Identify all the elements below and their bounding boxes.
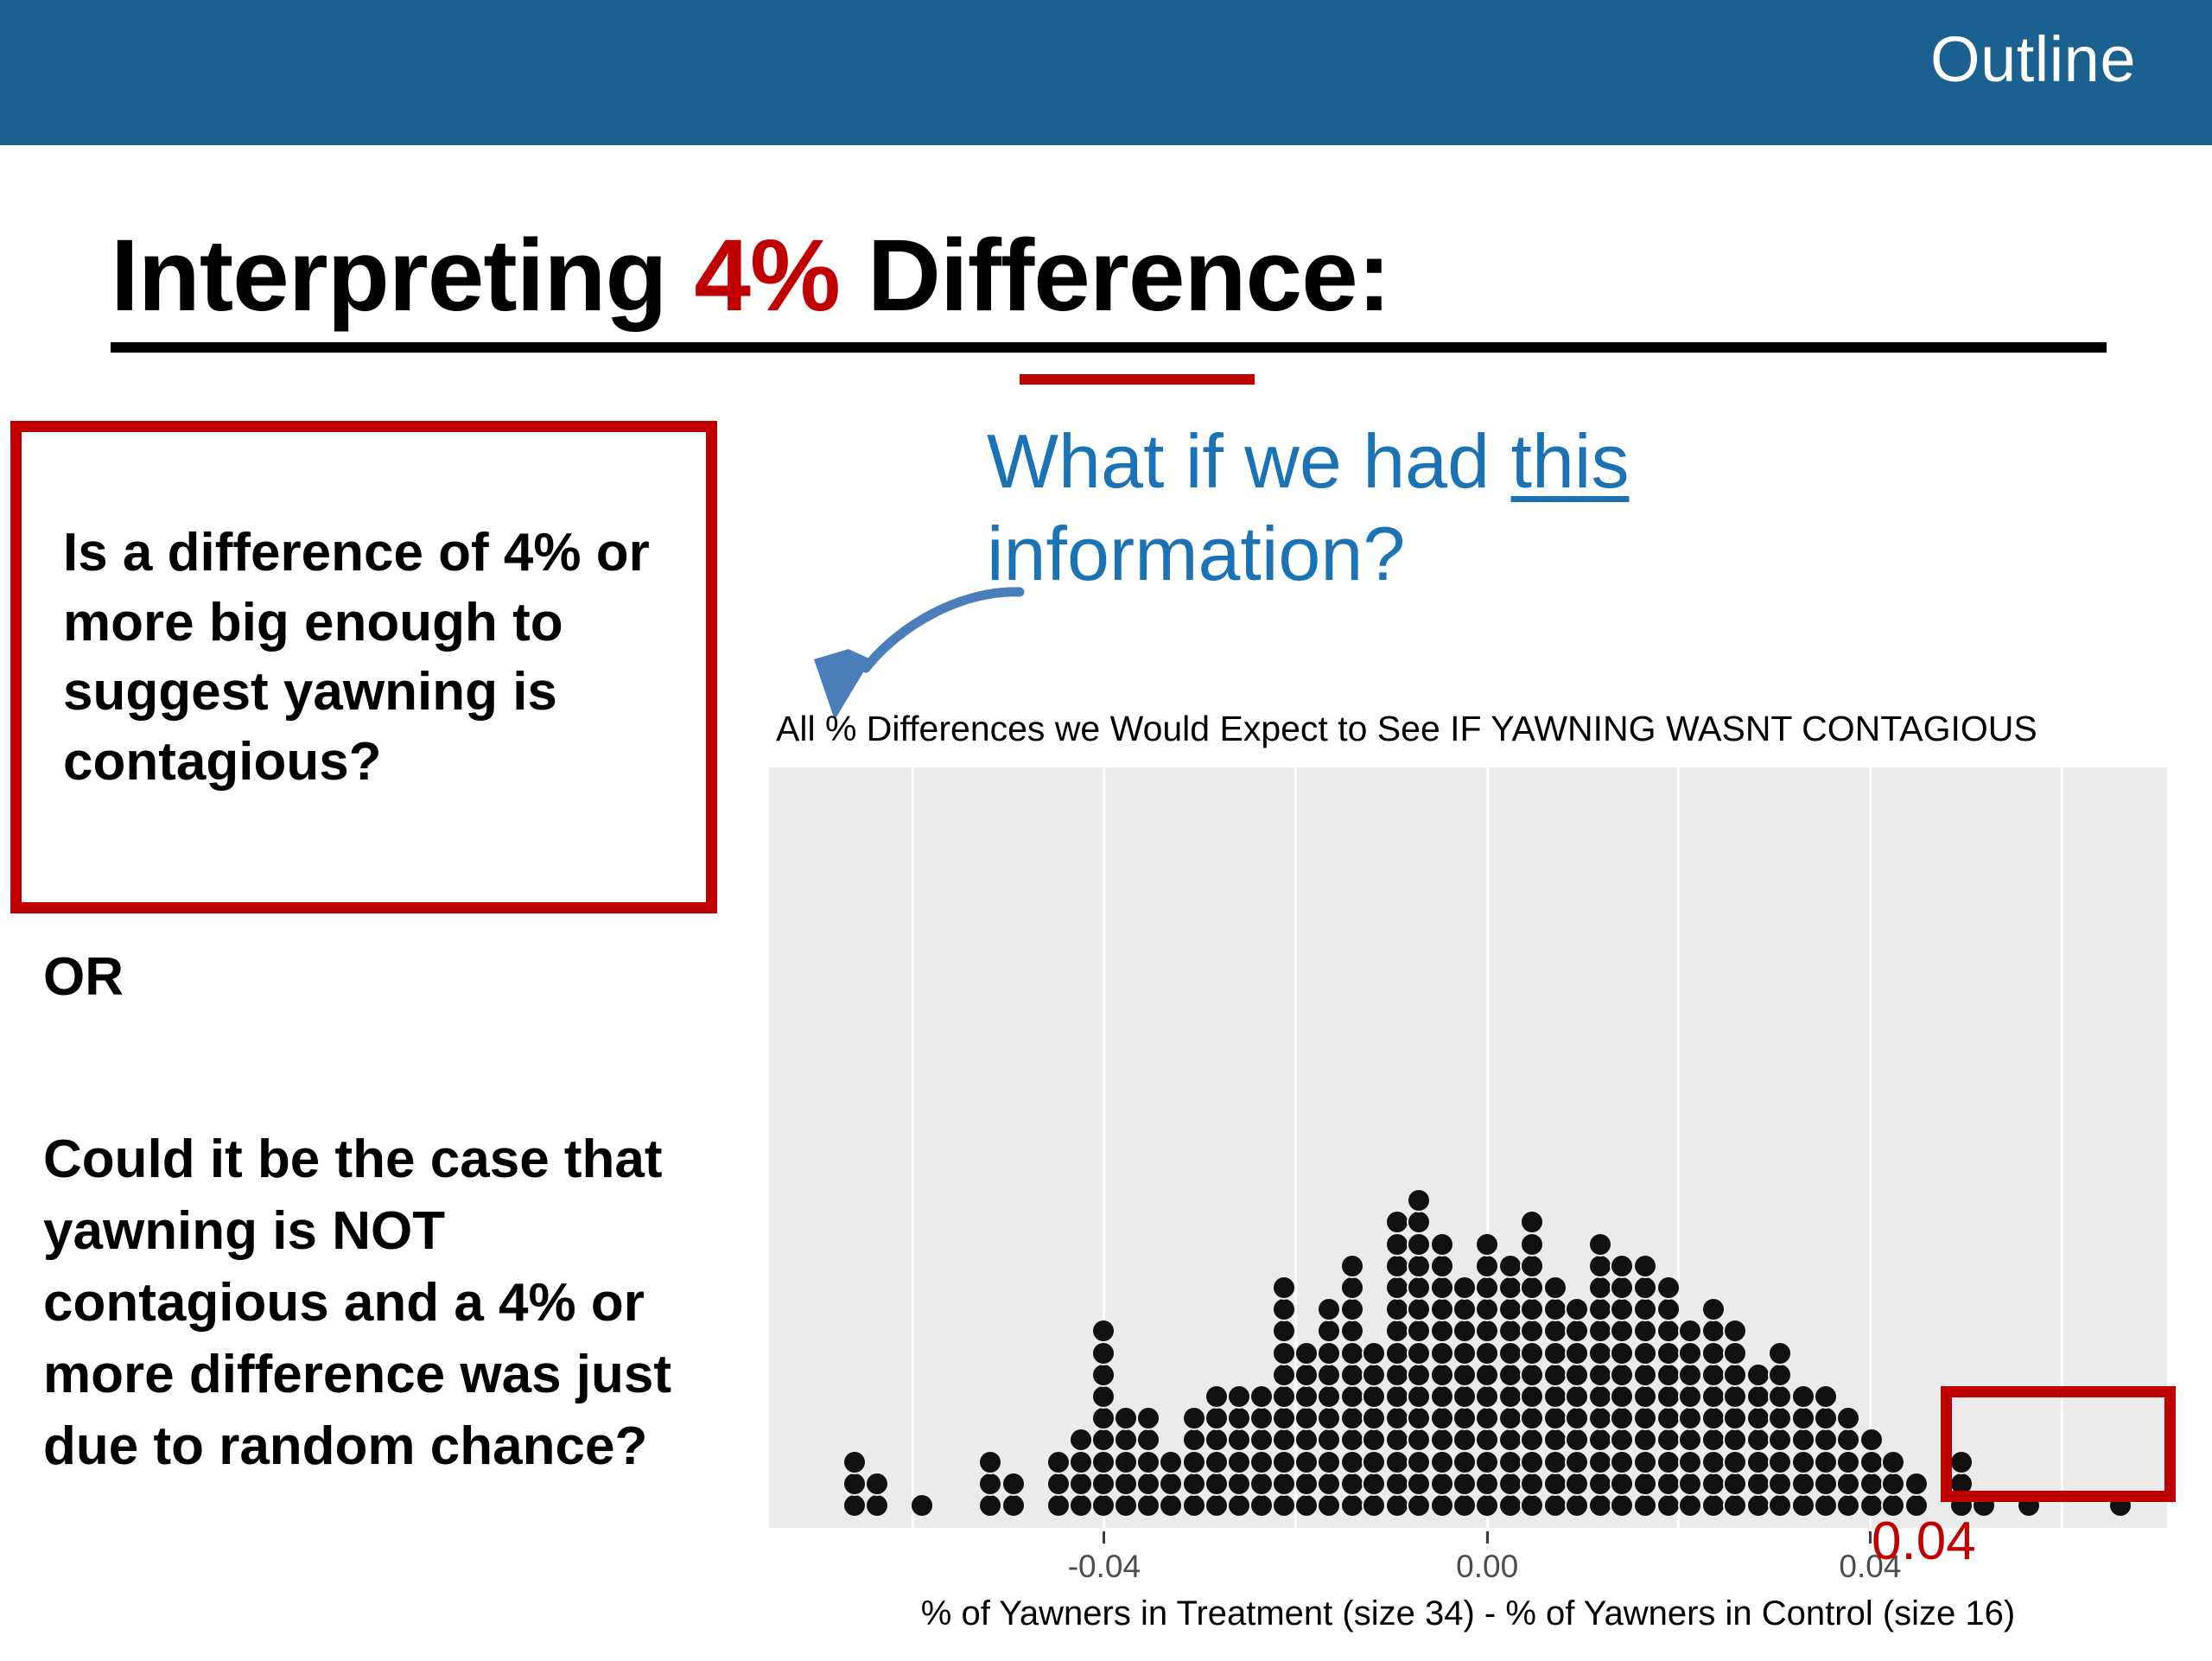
data-dot <box>1477 1343 1497 1364</box>
data-dot <box>1274 1473 1294 1494</box>
data-dot <box>1408 1495 1429 1516</box>
data-dot <box>1680 1365 1700 1385</box>
data-dot <box>1408 1473 1429 1494</box>
data-dot <box>1590 1365 1611 1385</box>
data-dot <box>1545 1343 1566 1364</box>
data-dot <box>1522 1299 1542 1320</box>
data-dot <box>1703 1321 1724 1341</box>
data-dot <box>1815 1386 1836 1407</box>
data-dot <box>1432 1452 1452 1473</box>
data-dot <box>1611 1343 1632 1364</box>
data-dot <box>1838 1495 1859 1516</box>
data-dot <box>1116 1408 1136 1429</box>
data-dot <box>1206 1452 1227 1473</box>
data-dot <box>1387 1386 1408 1407</box>
header-bar: Outline <box>0 0 2212 145</box>
data-dot <box>1342 1473 1363 1494</box>
data-dot <box>1635 1321 1656 1341</box>
data-dot <box>1725 1495 1745 1516</box>
or-label: OR <box>43 946 124 1008</box>
data-dot <box>1342 1495 1363 1516</box>
data-dot <box>1274 1365 1294 1385</box>
data-dot <box>1748 1473 1769 1494</box>
data-dot <box>1206 1429 1227 1450</box>
data-dot <box>1342 1299 1363 1320</box>
data-dot <box>1590 1234 1611 1255</box>
data-dot <box>1229 1473 1249 1494</box>
question-box-text: Is a difference of 4% or more big enough… <box>63 519 702 797</box>
data-dot <box>1454 1452 1475 1473</box>
data-dot <box>1432 1299 1452 1320</box>
data-dot <box>1296 1452 1317 1473</box>
data-dot <box>1838 1408 1859 1429</box>
data-dot <box>867 1495 887 1516</box>
data-dot <box>1048 1473 1069 1494</box>
data-dot <box>1229 1408 1249 1429</box>
data-dot <box>1703 1452 1724 1473</box>
data-dot <box>1138 1473 1159 1494</box>
data-dot <box>1093 1452 1114 1473</box>
data-dot <box>1725 1408 1745 1429</box>
data-dot <box>1545 1321 1566 1341</box>
callout-line2: information? <box>987 511 1405 596</box>
data-dot <box>1635 1473 1656 1494</box>
data-dot <box>1658 1299 1679 1320</box>
data-dot <box>1522 1234 1542 1255</box>
data-dot <box>1432 1473 1452 1494</box>
data-dot <box>1703 1365 1724 1385</box>
data-dot <box>1432 1386 1452 1407</box>
data-dot <box>1703 1386 1724 1407</box>
data-dot <box>1387 1299 1408 1320</box>
data-dot <box>1748 1452 1769 1473</box>
page-title-part1: Interpreting <box>111 219 694 333</box>
data-dot <box>1116 1429 1136 1450</box>
data-dot <box>1590 1473 1611 1494</box>
data-dot <box>1567 1386 1587 1407</box>
data-dot <box>844 1473 865 1494</box>
data-dot <box>1138 1495 1159 1516</box>
data-dot <box>1680 1473 1700 1494</box>
data-dot <box>1838 1452 1859 1473</box>
data-dot <box>1477 1365 1497 1385</box>
chart-tick-mark <box>1103 1531 1105 1543</box>
data-dot <box>1408 1343 1429 1364</box>
data-dot <box>1477 1495 1497 1516</box>
data-dot <box>1567 1299 1587 1320</box>
data-dot <box>1387 1212 1408 1232</box>
data-dot <box>1680 1452 1700 1473</box>
data-dot <box>1319 1321 1339 1341</box>
data-dot <box>1048 1495 1069 1516</box>
data-dot <box>1590 1299 1611 1320</box>
data-dot <box>1342 1343 1363 1364</box>
data-dot <box>1387 1429 1408 1450</box>
data-dot <box>1408 1321 1429 1341</box>
data-dot <box>1680 1408 1700 1429</box>
data-dot <box>1408 1212 1429 1232</box>
data-dot <box>1838 1429 1859 1450</box>
data-dot <box>1545 1452 1566 1473</box>
data-dot <box>980 1452 1001 1473</box>
alternative-text: Could it be the case that yawning is NOT… <box>43 1123 734 1482</box>
data-dot <box>1408 1190 1429 1211</box>
data-dot <box>1545 1299 1566 1320</box>
data-dot <box>1408 1365 1429 1385</box>
data-dot <box>1522 1321 1542 1341</box>
callout-line1-underlined: this <box>1511 418 1630 504</box>
data-dot <box>1363 1365 1384 1385</box>
data-dot <box>1408 1429 1429 1450</box>
data-dot <box>1274 1408 1294 1429</box>
data-dot <box>1658 1343 1679 1364</box>
data-dot <box>867 1473 887 1494</box>
data-dot <box>1274 1299 1294 1320</box>
data-dot <box>1408 1234 1429 1255</box>
tail-highlight-box <box>1941 1386 2176 1502</box>
data-dot <box>1206 1473 1227 1494</box>
data-dot <box>1454 1429 1475 1450</box>
data-dot <box>1093 1343 1114 1364</box>
data-dot <box>1048 1452 1069 1473</box>
data-dot <box>1432 1343 1452 1364</box>
data-dot <box>1590 1386 1611 1407</box>
data-dot <box>1611 1321 1632 1341</box>
data-dot <box>1363 1473 1384 1494</box>
data-dot <box>1184 1429 1205 1450</box>
data-dot <box>1522 1408 1542 1429</box>
data-dot <box>1635 1386 1656 1407</box>
data-dot <box>1229 1429 1249 1450</box>
data-dot <box>1500 1386 1521 1407</box>
page-title: Interpreting 4% Difference: <box>111 223 2107 353</box>
data-dot <box>1093 1408 1114 1429</box>
data-dot <box>1003 1473 1024 1494</box>
data-dot <box>1454 1365 1475 1385</box>
data-dot <box>1635 1452 1656 1473</box>
data-dot <box>1319 1365 1339 1385</box>
data-dot <box>1522 1386 1542 1407</box>
data-dot <box>1545 1408 1566 1429</box>
data-dot <box>1611 1365 1632 1385</box>
data-dot <box>1500 1473 1521 1494</box>
data-dot <box>1274 1429 1294 1450</box>
data-dot <box>1408 1299 1429 1320</box>
data-dot <box>1274 1321 1294 1341</box>
data-dot <box>1590 1256 1611 1276</box>
data-dot <box>1725 1452 1745 1473</box>
data-dot <box>844 1452 865 1473</box>
data-dot <box>1251 1452 1272 1473</box>
data-dot <box>1725 1429 1745 1450</box>
data-dot <box>1477 1321 1497 1341</box>
data-dot <box>1611 1429 1632 1450</box>
data-dot <box>1296 1343 1317 1364</box>
data-dot <box>1770 1365 1790 1385</box>
data-dot <box>1793 1495 1814 1516</box>
data-dot <box>1477 1452 1497 1473</box>
data-dot <box>1567 1343 1587 1364</box>
data-dot <box>1454 1473 1475 1494</box>
data-dot <box>1093 1473 1114 1494</box>
data-dot <box>1274 1386 1294 1407</box>
data-dot <box>1387 1495 1408 1516</box>
data-dot <box>1725 1343 1745 1364</box>
data-dot <box>980 1473 1001 1494</box>
data-dot <box>1093 1365 1114 1385</box>
data-dot <box>1658 1452 1679 1473</box>
data-dot <box>1522 1495 1542 1516</box>
data-dot <box>1748 1408 1769 1429</box>
data-dot <box>1658 1495 1679 1516</box>
data-dot <box>1363 1429 1384 1450</box>
data-dot <box>1363 1495 1384 1516</box>
data-dot <box>1635 1429 1656 1450</box>
data-dot <box>1703 1473 1724 1494</box>
data-dot <box>1567 1408 1587 1429</box>
data-dot <box>1611 1408 1632 1429</box>
data-dot <box>1611 1299 1632 1320</box>
data-dot <box>1432 1277 1452 1298</box>
chart-x-axis-label: % of Yawners in Treatment (size 34) - % … <box>769 1594 2167 1633</box>
data-dot <box>1590 1429 1611 1450</box>
data-dot <box>1477 1277 1497 1298</box>
data-dot <box>1611 1277 1632 1298</box>
data-dot <box>1680 1429 1700 1450</box>
data-dot <box>1658 1429 1679 1450</box>
data-dot <box>1342 1452 1363 1473</box>
data-dot <box>1003 1495 1024 1516</box>
data-dot <box>1680 1321 1700 1341</box>
data-dot <box>1184 1473 1205 1494</box>
data-dot <box>1319 1408 1339 1429</box>
data-dot <box>1522 1277 1542 1298</box>
data-dot <box>1590 1321 1611 1341</box>
data-dot <box>1567 1365 1587 1385</box>
data-dot <box>1793 1452 1814 1473</box>
data-dot <box>1251 1408 1272 1429</box>
data-dot <box>1500 1343 1521 1364</box>
data-dot <box>1658 1386 1679 1407</box>
data-dot <box>1184 1408 1205 1429</box>
data-dot <box>1274 1452 1294 1473</box>
data-dot <box>1567 1495 1587 1516</box>
data-dot <box>1454 1321 1475 1341</box>
data-dot <box>1296 1408 1317 1429</box>
data-dot <box>1883 1452 1904 1473</box>
data-dot <box>1342 1429 1363 1450</box>
data-dot <box>1160 1473 1181 1494</box>
data-dot <box>1861 1452 1882 1473</box>
data-dot <box>1319 1343 1339 1364</box>
data-dot <box>1342 1321 1363 1341</box>
data-dot <box>1319 1429 1339 1450</box>
data-dot <box>1793 1429 1814 1450</box>
data-dot <box>1116 1495 1136 1516</box>
data-dot <box>1296 1473 1317 1494</box>
callout-line1-before: What if we had <box>987 418 1511 504</box>
chart-tick-mark <box>1486 1531 1489 1543</box>
data-dot <box>1387 1365 1408 1385</box>
callout-text: What if we had this information? <box>987 415 2006 601</box>
data-dot <box>1387 1343 1408 1364</box>
data-dot <box>1815 1473 1836 1494</box>
data-dot <box>1477 1256 1497 1276</box>
page-title-accent: 4% <box>694 219 840 333</box>
data-dot <box>1770 1495 1790 1516</box>
data-dot <box>1500 1277 1521 1298</box>
data-dot <box>1206 1408 1227 1429</box>
data-dot <box>1432 1408 1452 1429</box>
data-dot <box>1408 1256 1429 1276</box>
data-dot <box>1703 1429 1724 1450</box>
data-dot <box>1590 1452 1611 1473</box>
data-dot <box>1861 1429 1882 1450</box>
data-dot <box>1611 1256 1632 1276</box>
data-dot <box>1635 1408 1656 1429</box>
data-dot <box>1906 1473 1927 1494</box>
data-dot <box>912 1495 932 1516</box>
data-dot <box>1432 1495 1452 1516</box>
data-dot <box>1160 1495 1181 1516</box>
data-dot <box>1611 1452 1632 1473</box>
data-dot <box>1342 1408 1363 1429</box>
data-dot <box>1770 1473 1790 1494</box>
data-dot <box>1093 1321 1114 1341</box>
data-dot <box>1477 1408 1497 1429</box>
data-dot <box>1522 1452 1542 1473</box>
data-dot <box>1477 1429 1497 1450</box>
data-dot <box>1229 1495 1249 1516</box>
data-dot <box>1522 1429 1542 1450</box>
data-dot <box>1363 1408 1384 1429</box>
chart-tick-label: 0.00 <box>1456 1549 1518 1585</box>
data-dot <box>1387 1408 1408 1429</box>
data-dot <box>1500 1408 1521 1429</box>
data-dot <box>1815 1429 1836 1450</box>
data-dot <box>1611 1495 1632 1516</box>
data-dot <box>1770 1429 1790 1450</box>
data-dot <box>1793 1386 1814 1407</box>
data-dot <box>1319 1386 1339 1407</box>
data-dot <box>1363 1386 1384 1407</box>
data-dot <box>1387 1234 1408 1255</box>
data-dot <box>1229 1452 1249 1473</box>
data-dot <box>1454 1386 1475 1407</box>
data-dot <box>1770 1386 1790 1407</box>
data-dot <box>1725 1386 1745 1407</box>
chart-gridline <box>912 767 914 1528</box>
data-dot <box>1567 1452 1587 1473</box>
data-dot <box>1748 1365 1769 1385</box>
data-dot <box>1611 1386 1632 1407</box>
data-dot <box>1093 1495 1114 1516</box>
page-title-part2: Difference: <box>840 219 1390 333</box>
data-dot <box>1296 1386 1317 1407</box>
data-dot <box>1500 1429 1521 1450</box>
data-dot <box>1635 1299 1656 1320</box>
data-dot <box>1138 1408 1159 1429</box>
data-dot <box>1793 1473 1814 1494</box>
data-dot <box>1432 1256 1452 1276</box>
chart-tick-label: -0.04 <box>1068 1549 1141 1585</box>
data-dot <box>1408 1452 1429 1473</box>
data-dot <box>1342 1277 1363 1298</box>
data-dot <box>1342 1365 1363 1385</box>
data-dot <box>1477 1234 1497 1255</box>
data-dot <box>1500 1495 1521 1516</box>
data-dot <box>1454 1343 1475 1364</box>
data-dot <box>1590 1277 1611 1298</box>
data-dot <box>1477 1299 1497 1320</box>
data-dot <box>1387 1321 1408 1341</box>
chart-title: All % Differences we Would Expect to See… <box>776 709 2176 749</box>
data-dot <box>1432 1429 1452 1450</box>
data-dot <box>1590 1343 1611 1364</box>
data-dot <box>1342 1256 1363 1276</box>
data-dot <box>1296 1365 1317 1385</box>
data-dot <box>1432 1365 1452 1385</box>
data-dot <box>1748 1386 1769 1407</box>
data-dot <box>1319 1299 1339 1320</box>
data-dot <box>1093 1386 1114 1407</box>
data-dot <box>980 1495 1001 1516</box>
data-dot <box>1567 1473 1587 1494</box>
data-dot <box>1251 1386 1272 1407</box>
data-dot <box>1635 1495 1656 1516</box>
data-dot <box>1545 1365 1566 1385</box>
data-dot <box>1071 1473 1091 1494</box>
data-dot <box>1658 1277 1679 1298</box>
data-dot <box>1454 1277 1475 1298</box>
data-dot <box>1206 1386 1227 1407</box>
data-dot <box>1071 1495 1091 1516</box>
tail-highlight-label: 0.04 <box>1872 1511 1976 1572</box>
data-dot <box>1635 1277 1656 1298</box>
chart-gridline <box>1869 767 1872 1528</box>
data-dot <box>1454 1408 1475 1429</box>
data-dot <box>1770 1452 1790 1473</box>
data-dot <box>1658 1408 1679 1429</box>
data-dot <box>1770 1408 1790 1429</box>
data-dot <box>1454 1495 1475 1516</box>
data-dot <box>1500 1321 1521 1341</box>
data-dot <box>1138 1452 1159 1473</box>
data-dot <box>1296 1429 1317 1450</box>
data-dot <box>1680 1495 1700 1516</box>
data-dot <box>1611 1473 1632 1494</box>
data-dot <box>1432 1234 1452 1255</box>
data-dot <box>1251 1473 1272 1494</box>
data-dot <box>1522 1256 1542 1276</box>
data-dot <box>1477 1386 1497 1407</box>
data-dot <box>1408 1277 1429 1298</box>
data-dot <box>1680 1343 1700 1364</box>
data-dot <box>1545 1429 1566 1450</box>
data-dot <box>1815 1452 1836 1473</box>
data-dot <box>1116 1452 1136 1473</box>
data-dot <box>1363 1343 1384 1364</box>
data-dot <box>1725 1473 1745 1494</box>
data-dot <box>1138 1429 1159 1450</box>
data-dot <box>1703 1299 1724 1320</box>
data-dot <box>1408 1408 1429 1429</box>
data-dot <box>1748 1429 1769 1450</box>
data-dot <box>1251 1495 1272 1516</box>
question-box: Is a difference of 4% or more big enough… <box>10 421 717 913</box>
data-dot <box>1296 1495 1317 1516</box>
data-dot <box>1229 1386 1249 1407</box>
